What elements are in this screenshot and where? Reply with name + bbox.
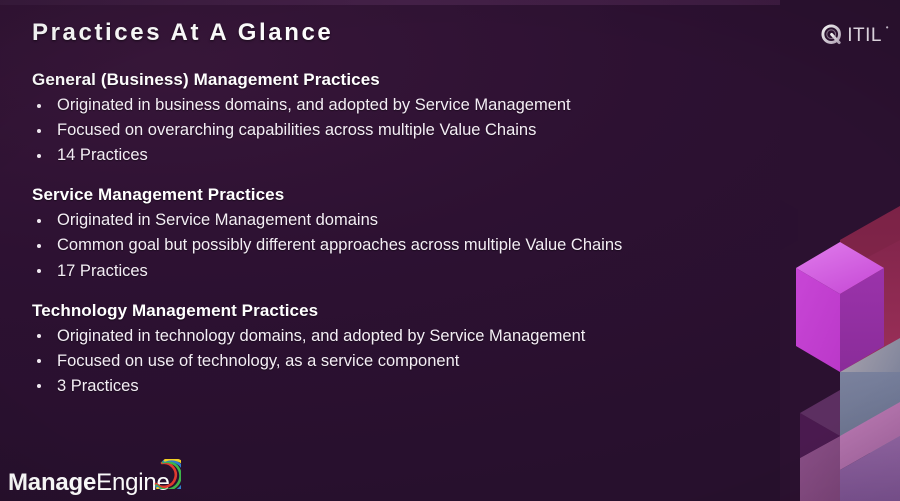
- list-item-text: Originated in business domains, and adop…: [57, 96, 571, 114]
- list-item-text: Originated in Service Management domains: [57, 211, 378, 229]
- manageengine-swoosh-icon: [153, 459, 181, 494]
- list-item: Focused on use of technology, as a servi…: [32, 351, 762, 372]
- section-heading: Technology Management Practices: [32, 301, 762, 321]
- bullet-list: Originated in Service Management domains…: [32, 210, 762, 281]
- manageengine-bold-part: Manage: [8, 469, 96, 496]
- top-accent-strip: [0, 0, 900, 5]
- section-general-business-management: General (Business) Management Practices …: [32, 70, 762, 166]
- list-item: 14 Practices: [32, 145, 762, 166]
- bullet-list: Originated in technology domains, and ad…: [32, 326, 762, 397]
- section-service-management: Service Management Practices Originated …: [32, 185, 762, 281]
- manageengine-logo: ManageEngine: [8, 465, 181, 495]
- section-heading: Service Management Practices: [32, 185, 762, 205]
- bullet-dot-icon: [37, 334, 41, 338]
- bullet-dot-icon: [37, 129, 41, 133]
- list-item: 17 Practices: [32, 261, 762, 282]
- list-item: Originated in business domains, and adop…: [32, 95, 762, 116]
- bullet-list: Originated in business domains, and adop…: [32, 95, 762, 166]
- list-item: Focused on overarching capabilities acro…: [32, 120, 762, 141]
- itil-trademark-dot: •: [886, 24, 889, 32]
- bullet-dot-icon: [37, 104, 41, 108]
- slide-content: General (Business) Management Practices …: [32, 70, 762, 397]
- list-item-text: Originated in technology domains, and ad…: [57, 327, 585, 345]
- list-item-text: Focused on overarching capabilities acro…: [57, 121, 536, 139]
- bullet-dot-icon: [37, 269, 41, 273]
- slide-root: Practices At A Glance ITIL •: [0, 0, 900, 501]
- itil-logo: ITIL •: [821, 24, 882, 46]
- manageengine-wordmark: ManageEngine: [8, 471, 170, 495]
- list-item-text: 3 Practices: [57, 377, 139, 395]
- bullet-dot-icon: [37, 359, 41, 363]
- isometric-cubes-decoration: [780, 0, 900, 501]
- list-item: Originated in technology domains, and ad…: [32, 326, 762, 347]
- bullet-dot-icon: [37, 384, 41, 388]
- itil-q-mark-icon: [821, 24, 843, 46]
- itil-wordmark-text: ITIL: [847, 25, 882, 46]
- bullet-dot-icon: [37, 244, 41, 248]
- list-item-text: Focused on use of technology, as a servi…: [57, 352, 459, 370]
- list-item-text: 14 Practices: [57, 146, 148, 164]
- bullet-dot-icon: [37, 219, 41, 223]
- section-technology-management: Technology Management Practices Originat…: [32, 301, 762, 397]
- list-item-text: Common goal but possibly different appro…: [57, 236, 622, 254]
- list-item-text: 17 Practices: [57, 262, 148, 280]
- list-item: Originated in Service Management domains: [32, 210, 762, 231]
- itil-wordmark: ITIL •: [847, 26, 882, 45]
- list-item: 3 Practices: [32, 376, 762, 397]
- bullet-dot-icon: [37, 154, 41, 158]
- list-item: Common goal but possibly different appro…: [32, 235, 762, 256]
- section-heading: General (Business) Management Practices: [32, 70, 762, 90]
- page-title: Practices At A Glance: [32, 19, 333, 47]
